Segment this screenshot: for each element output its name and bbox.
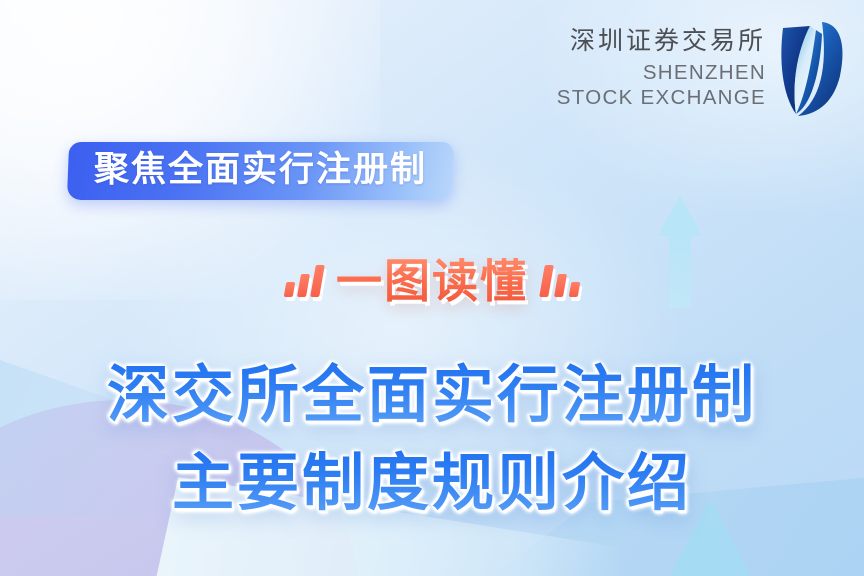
topic-badge: 聚焦全面实行注册制 [67, 142, 454, 200]
page-title-line-1: 深交所全面实行注册制 [0, 352, 864, 440]
logo-name-english-line1: SHENZHEN [557, 61, 766, 86]
logo-wordmark: 深圳证券交易所 SHENZHEN STOCK EXCHANGE [557, 29, 766, 110]
sub-headline-label: 一图读懂 [336, 258, 528, 304]
ascending-bars-icon [285, 265, 322, 297]
page-title: 深交所全面实行注册制 主要制度规则介绍 [0, 352, 864, 528]
logo-name-english: SHENZHEN STOCK EXCHANGE [557, 61, 766, 110]
sub-headline: 一图读懂 [0, 258, 864, 304]
logo-name-chinese: 深圳证券交易所 [557, 29, 766, 54]
szse-logo: 深圳证券交易所 SHENZHEN STOCK EXCHANGE [557, 14, 848, 126]
logo-name-english-line2: STOCK EXCHANGE [557, 86, 766, 111]
topic-badge-label: 聚焦全面实行注册制 [94, 151, 427, 189]
poster-canvas: 深圳证券交易所 SHENZHEN STOCK EXCHANGE [0, 0, 864, 576]
descending-bars-icon [542, 265, 579, 297]
page-title-line-2: 主要制度规则介绍 [0, 440, 864, 528]
szse-dual-leaf-logo-icon [776, 14, 848, 126]
